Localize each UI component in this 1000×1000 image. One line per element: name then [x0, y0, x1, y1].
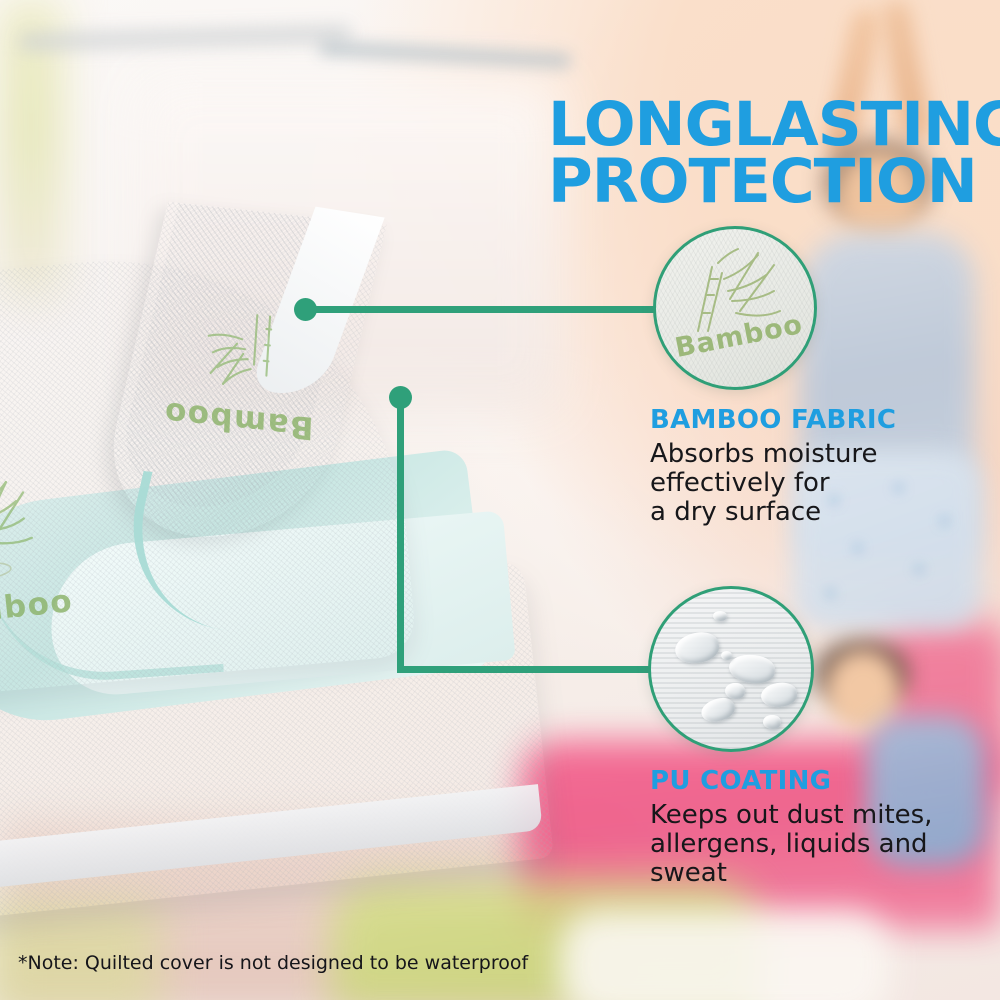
feature-body-line: a dry surface: [650, 497, 821, 527]
page-title-line-2: PROTECTION: [548, 153, 998, 210]
feature-body-line: Keeps out dust mites,: [650, 800, 932, 830]
feature-body-line: allergens, liquids and: [650, 829, 928, 859]
feature-title-bamboo-fabric: BAMBOO FABRIC: [650, 405, 980, 435]
product-brand-upright: Bamboo: [0, 454, 117, 667]
bamboo-plant-icon: [179, 296, 302, 409]
connector-line-pu-vertical: [397, 397, 404, 673]
callout-circle-pu-coating: [648, 586, 814, 752]
feature-body-bamboo-fabric: Absorbs moisture effectively for a dry s…: [650, 440, 980, 527]
callout-circle-bamboo-fabric: Bamboo: [653, 226, 817, 390]
infographic-canvas: Bamboo Bamboo: [0, 0, 1000, 1000]
feature-title-pu-coating: PU COATING: [650, 766, 980, 796]
feature-body-line: Absorbs moisture: [650, 439, 878, 469]
product-image: Bamboo Bamboo: [0, 230, 570, 930]
product-brand-reversed: Bamboo: [143, 248, 338, 448]
connector-line-pu-horizontal: [397, 666, 653, 673]
feature-body-pu-coating: Keeps out dust mites, allergens, liquids…: [650, 801, 980, 888]
feature-body-line: sweat: [650, 858, 727, 888]
feature-body-line: effectively for: [650, 468, 830, 498]
connector-line-bamboo: [305, 306, 657, 313]
feature-block-pu-coating: PU COATING Keeps out dust mites, allerge…: [650, 766, 980, 888]
product-brand-label: Bamboo: [0, 579, 114, 639]
background-person2-head: [826, 650, 900, 730]
footnote: *Note: Quilted cover is not designed to …: [18, 952, 528, 974]
bamboo-plant-icon: [0, 459, 70, 594]
page-title: LONGLASTING PROTECTION: [548, 96, 998, 211]
connector-dot-bamboo: [294, 298, 317, 321]
feature-block-bamboo-fabric: BAMBOO FABRIC Absorbs moisture effective…: [650, 405, 980, 527]
connector-dot-pu: [389, 386, 412, 409]
background-white-bedding: [560, 910, 890, 1000]
page-title-line-1: LONGLASTING: [548, 96, 998, 153]
